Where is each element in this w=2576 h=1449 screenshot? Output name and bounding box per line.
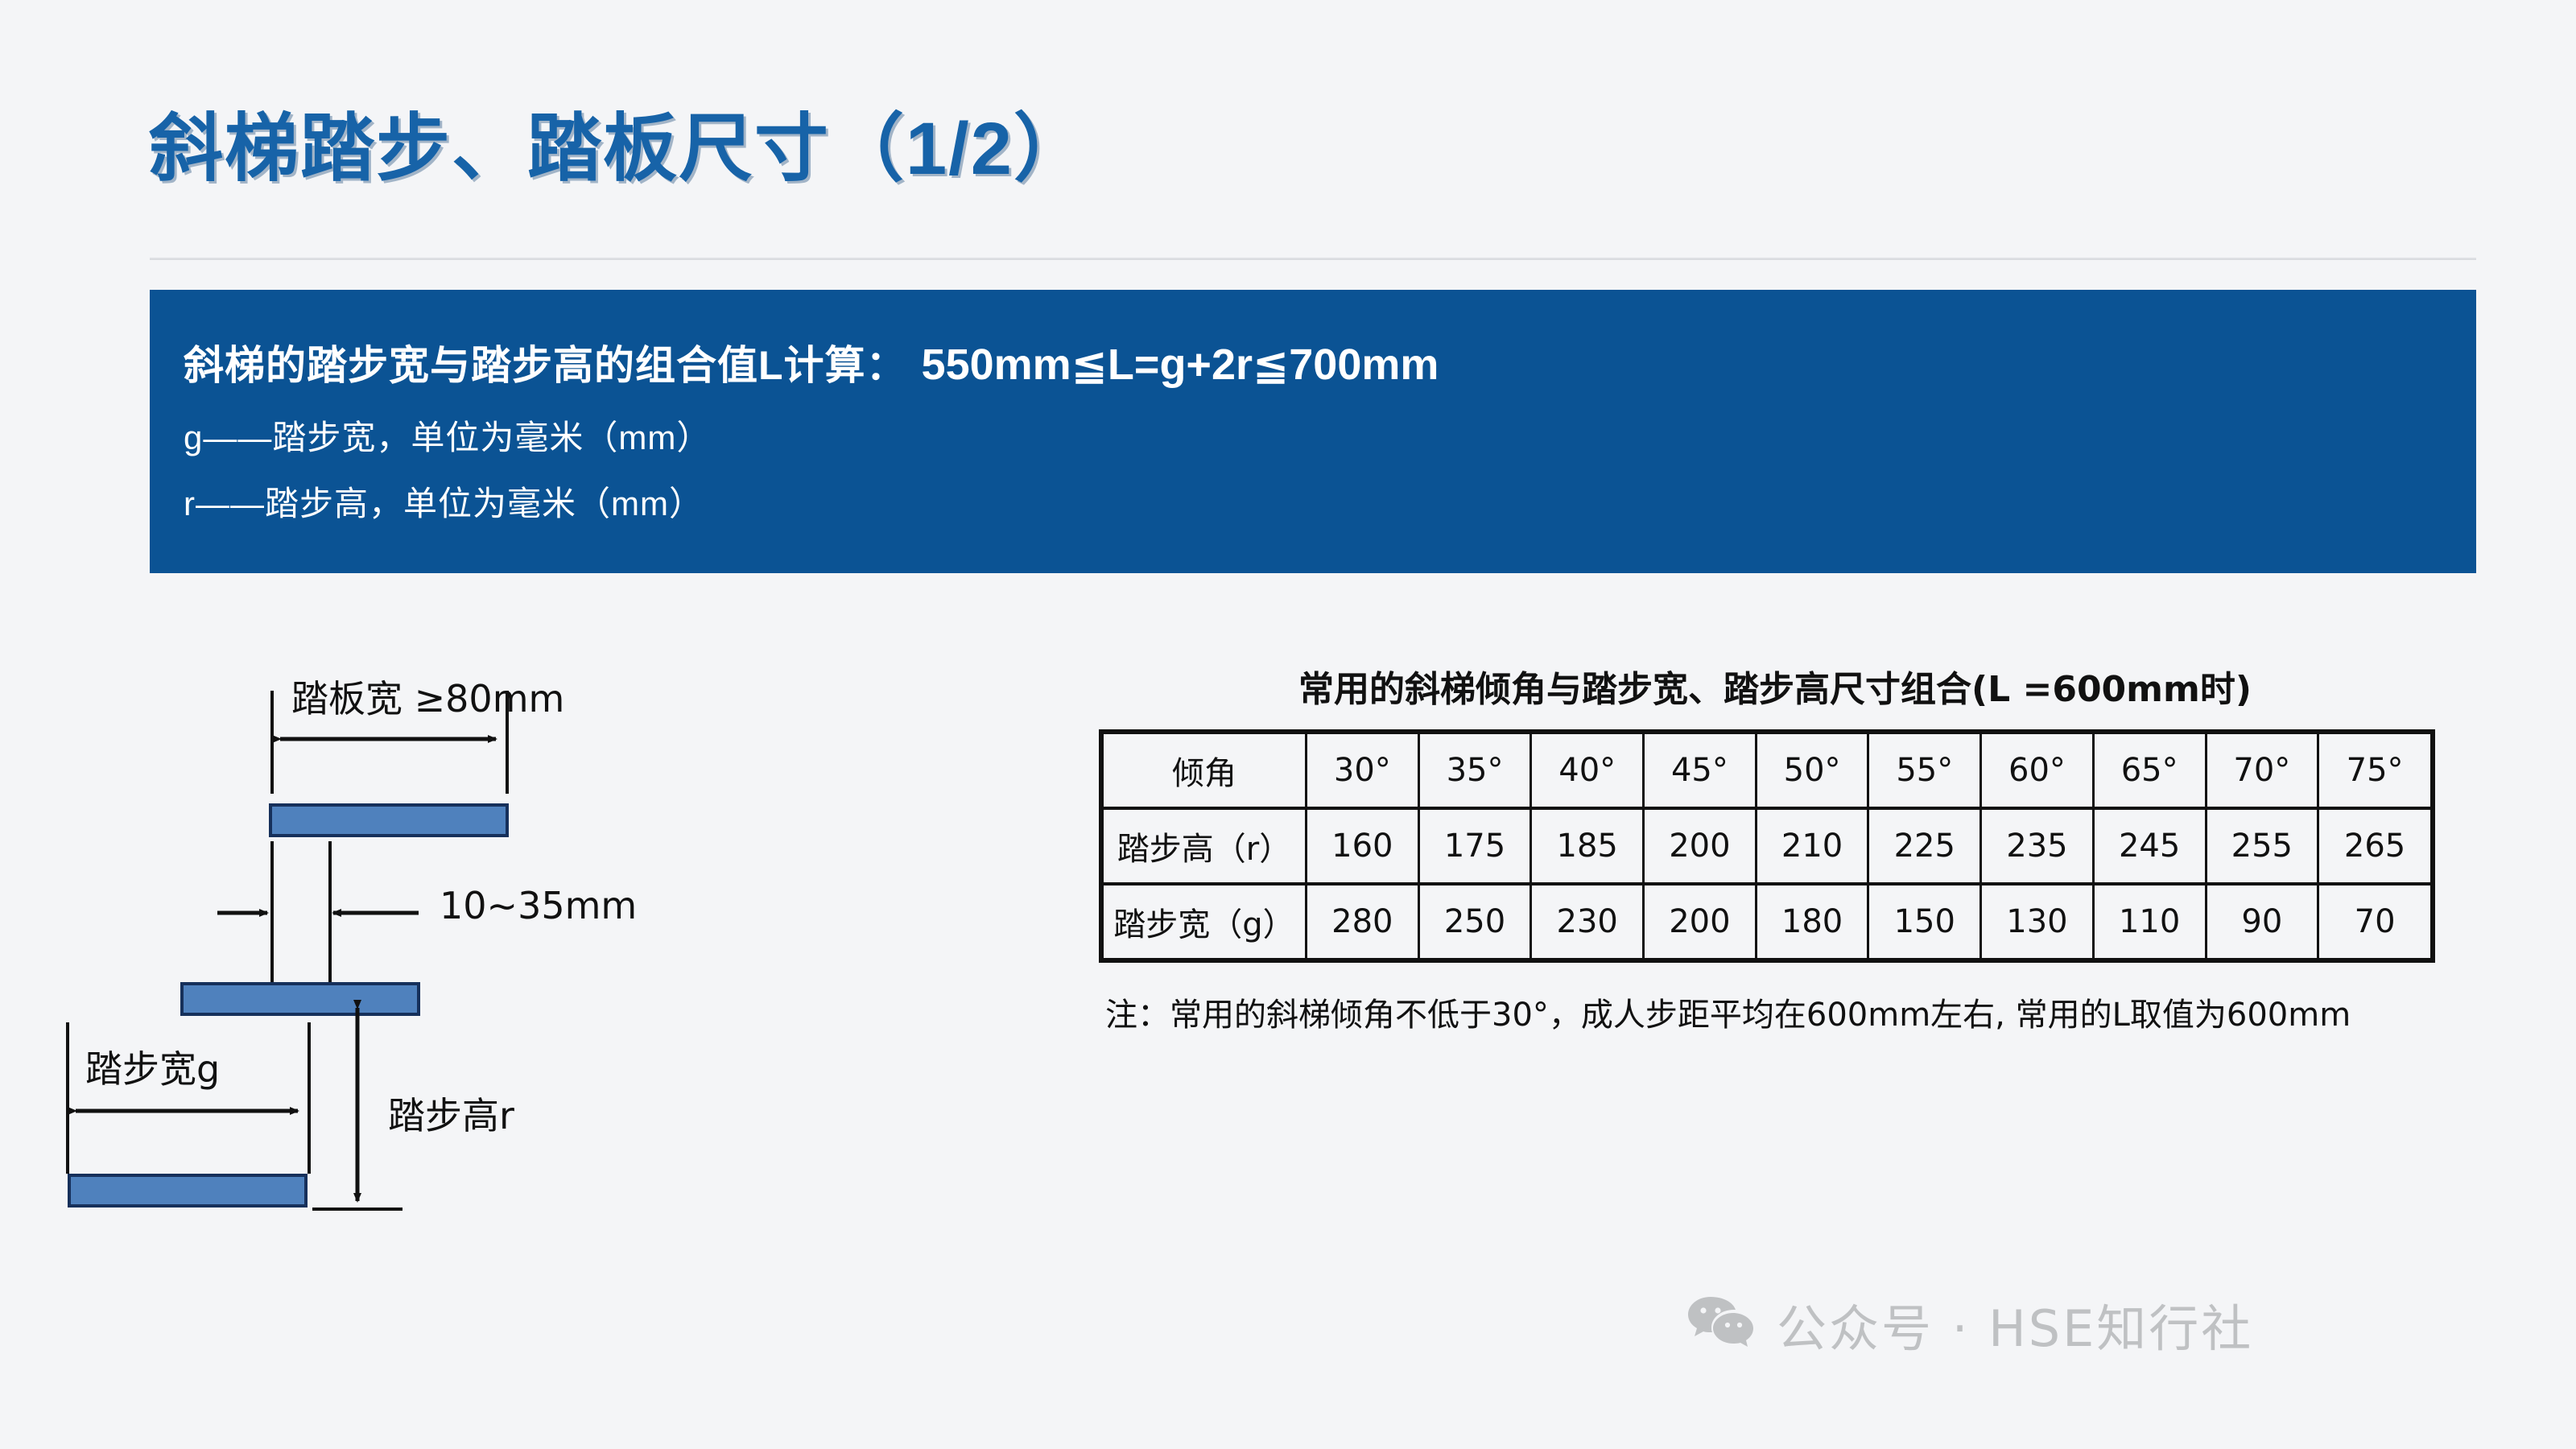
- label-nosing: 10~35mm: [440, 884, 637, 927]
- table-note: 注：常用的斜梯倾角不低于30°，成人步距平均在600mm左右, 常用的L取值为6…: [1105, 995, 2442, 1036]
- dimension-table: 倾角 30° 35° 40° 45° 50° 55° 60° 65° 70° 7…: [1099, 729, 2435, 963]
- table-row: 踏步宽（g） 280 250 230 200 180 150 130 110 9…: [1101, 884, 2433, 960]
- cell-angle-5: 55°: [1868, 732, 1981, 808]
- cell-going-5: 150: [1868, 884, 1981, 960]
- cell-angle-3: 45°: [1644, 732, 1757, 808]
- table-title: 常用的斜梯倾角与踏步宽、踏步高尺寸组合(L =600mm时): [1091, 660, 2459, 712]
- label-going: 踏步宽g: [85, 1040, 220, 1093]
- cell-rise-9: 265: [2318, 808, 2433, 884]
- cell-going-2: 230: [1531, 884, 1644, 960]
- label-rise: 踏步高r: [388, 1087, 514, 1140]
- cell-going-0: 280: [1307, 884, 1419, 960]
- formula-expression: 550mm≦L=g+2r≦700mm: [922, 339, 1439, 390]
- stair-dimension-diagram: 踏板宽 ≥80mm 10~35mm 踏步宽g 踏步高r: [97, 676, 1046, 1240]
- cell-rise-0: 160: [1307, 808, 1419, 884]
- extension-line-going-left: [66, 1022, 69, 1174]
- cell-going-6: 130: [1981, 884, 2094, 960]
- dimension-table-block: 常用的斜梯倾角与踏步宽、踏步高尺寸组合(L =600mm时) 倾角 30° 35…: [1091, 660, 2459, 1036]
- title-divider: [150, 258, 2476, 260]
- formula-line: 斜梯的踏步宽与踏步高的组合值L计算： 550mm≦L=g+2r≦700mm: [184, 333, 1439, 391]
- wechat-watermark: 公众号 · HSE知行社: [1686, 1288, 2253, 1360]
- cell-rise-6: 235: [1981, 808, 2094, 884]
- cell-angle-6: 60°: [1981, 732, 2094, 808]
- cell-going-9: 70: [2318, 884, 2433, 960]
- cell-rise-1: 175: [1418, 808, 1531, 884]
- cell-rise-4: 210: [1756, 808, 1868, 884]
- cell-angle-9: 75°: [2318, 732, 2433, 808]
- cell-angle-0: 30°: [1307, 732, 1419, 808]
- cell-rise-7: 245: [2093, 808, 2206, 884]
- definition-going: g——踏步宽，单位为毫米（mm）: [184, 411, 711, 460]
- cell-going-8: 90: [2206, 884, 2318, 960]
- cell-going-3: 200: [1644, 884, 1757, 960]
- cell-angle-4: 50°: [1756, 732, 1868, 808]
- formula-banner: 斜梯的踏步宽与踏步高的组合值L计算： 550mm≦L=g+2r≦700mm g—…: [150, 290, 2476, 573]
- cell-going-1: 250: [1418, 884, 1531, 960]
- definition-rise: r——踏步高，单位为毫米（mm）: [184, 477, 704, 526]
- row-header-rise: 踏步高（r）: [1101, 808, 1307, 884]
- cell-rise-2: 185: [1531, 808, 1644, 884]
- watermark-text: 公众号 · HSE知行社: [1777, 1288, 2253, 1360]
- cell-angle-8: 70°: [2206, 732, 2318, 808]
- table-row: 倾角 30° 35° 40° 45° 50° 55° 60° 65° 70° 7…: [1101, 732, 2433, 808]
- row-header-angle: 倾角: [1101, 732, 1307, 808]
- row-header-going: 踏步宽（g）: [1101, 884, 1307, 960]
- cell-rise-3: 200: [1644, 808, 1757, 884]
- dimension-arrows: [97, 676, 1046, 1240]
- wechat-icon: [1686, 1294, 1756, 1356]
- slide-canvas: 斜梯踏步、踏板尺寸（1/2） 斜梯的踏步宽与踏步高的组合值L计算： 550mm≦…: [0, 0, 2576, 1449]
- formula-lead: 斜梯的踏步宽与踏步高的组合值L计算：: [184, 333, 907, 391]
- page-title: 斜梯踏步、踏板尺寸（1/2）: [149, 89, 1089, 196]
- cell-rise-8: 255: [2206, 808, 2318, 884]
- cell-angle-7: 65°: [2093, 732, 2206, 808]
- table-row: 踏步高（r） 160 175 185 200 210 225 235 245 2…: [1101, 808, 2433, 884]
- cell-going-4: 180: [1756, 884, 1868, 960]
- cell-angle-1: 35°: [1418, 732, 1531, 808]
- cell-rise-5: 225: [1868, 808, 1981, 884]
- label-tread-width: 踏板宽 ≥80mm: [291, 670, 564, 723]
- cell-going-7: 110: [2093, 884, 2206, 960]
- cell-angle-2: 40°: [1531, 732, 1644, 808]
